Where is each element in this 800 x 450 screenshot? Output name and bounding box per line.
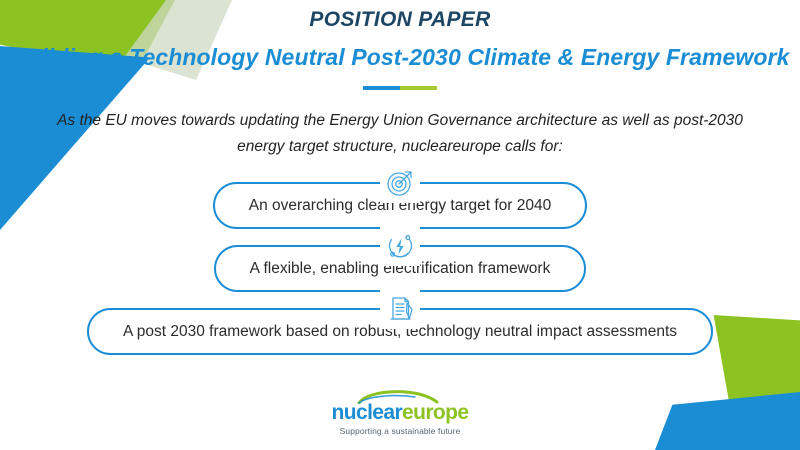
lightning-bolt-circle-icon xyxy=(380,226,420,266)
logo-word-primary: nuclear xyxy=(332,401,403,424)
document-checklist-pen-icon xyxy=(380,289,420,329)
list-item: A post 2030 framework based on robust, t… xyxy=(87,308,713,355)
list-item: An overarching clean energy target for 2… xyxy=(213,182,587,229)
asks-list: An overarching clean energy target for 2… xyxy=(0,182,800,355)
logo-word-secondary: europe xyxy=(402,401,468,424)
target-arrow-icon xyxy=(380,163,420,203)
divider-blue-segment xyxy=(363,86,400,90)
slide-canvas: POSITION PAPER Building a Technology Neu… xyxy=(0,0,800,450)
logo-wordmark: nucleareurope xyxy=(295,402,505,423)
bottom-right-blue-shape xyxy=(655,392,800,450)
intro-paragraph: As the EU moves towards updating the Ene… xyxy=(50,108,750,159)
list-item: A flexible, enabling electrification fra… xyxy=(214,245,587,292)
nucleareurope-logo: nucleareurope Supporting a sustainable f… xyxy=(295,390,505,436)
divider-green-segment xyxy=(400,86,437,90)
kicker-label: POSITION PAPER xyxy=(0,8,800,32)
page-title: Building a Technology Neutral Post-2030 … xyxy=(0,44,800,71)
swoosh-arc-icon xyxy=(295,390,505,403)
title-divider xyxy=(363,86,437,90)
logo-tagline: Supporting a sustainable future xyxy=(295,426,505,436)
